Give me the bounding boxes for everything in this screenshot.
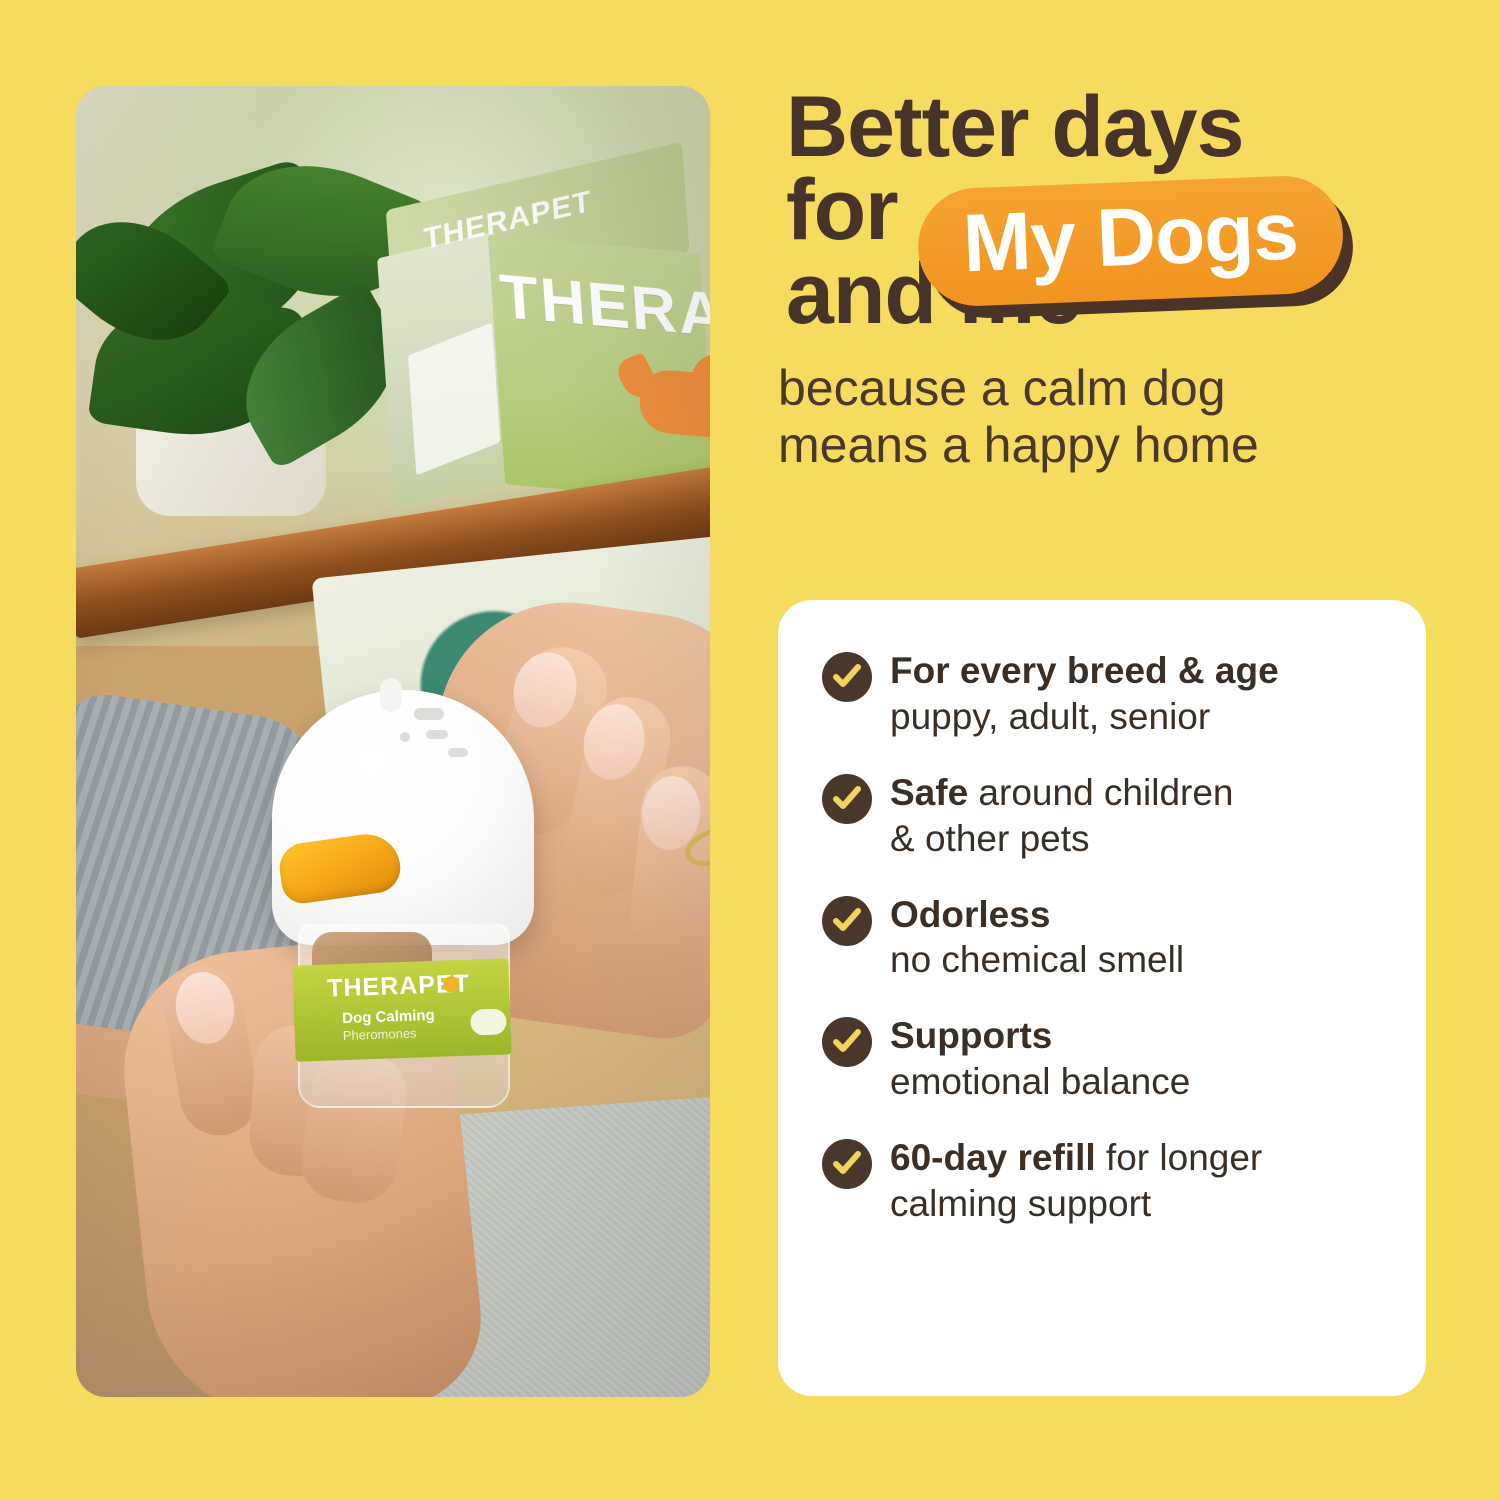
check-icon — [822, 1139, 872, 1189]
list-item: For every breed & age puppy, adult, seni… — [822, 648, 1386, 740]
feature-sub: calming support — [890, 1181, 1262, 1227]
feature-bold: Odorless — [890, 894, 1050, 935]
feature-bold: For every breed & age — [890, 650, 1279, 691]
feature-card: For every breed & age puppy, adult, seni… — [778, 600, 1426, 1396]
feature-text: Safe around children & other pets — [890, 770, 1234, 862]
feature-text: Odorless no chemical smell — [890, 892, 1184, 984]
check-icon — [822, 1017, 872, 1067]
check-icon — [822, 652, 872, 702]
list-item: 60-day refill for longer calming support — [822, 1135, 1386, 1227]
feature-bold: Supports — [890, 1015, 1052, 1056]
list-item: Supports emotional balance — [822, 1013, 1386, 1105]
subheadline: because a calm dog means a happy home — [778, 360, 1418, 474]
poster-canvas: THERAPET THERAPET — [0, 0, 1500, 1500]
badge-label: My Dogs — [962, 191, 1300, 292]
check-icon — [822, 774, 872, 824]
feature-sub: & other pets — [890, 816, 1234, 862]
feature-bold: Safe — [890, 772, 968, 813]
feature-rest: around children — [968, 772, 1233, 813]
feature-rest: for longer — [1096, 1137, 1263, 1178]
feature-text: 60-day refill for longer calming support — [890, 1135, 1262, 1227]
feature-sub: puppy, adult, senior — [890, 694, 1279, 740]
headline-line-1: Better days — [786, 86, 1438, 169]
subheadline-line-2: means a happy home — [778, 417, 1418, 474]
photo-vignette — [76, 86, 710, 1397]
subheadline-line-1: because a calm dog — [778, 360, 1418, 417]
feature-text: Supports emotional balance — [890, 1013, 1190, 1105]
right-column: Better days for and me My Dogs because a… — [778, 86, 1438, 474]
badge-pill: My Dogs — [916, 174, 1345, 308]
feature-bold: 60-day refill — [890, 1137, 1096, 1178]
product-photo: THERAPET THERAPET — [76, 86, 710, 1397]
feature-text: For every breed & age puppy, adult, seni… — [890, 648, 1279, 740]
feature-sub: emotional balance — [890, 1059, 1190, 1105]
feature-sub: no chemical smell — [890, 937, 1184, 983]
feature-list: For every breed & age puppy, adult, seni… — [778, 600, 1426, 1267]
list-item: Odorless no chemical smell — [822, 892, 1386, 984]
check-icon — [822, 896, 872, 946]
list-item: Safe around children & other pets — [822, 770, 1386, 862]
headline: Better days for and me My Dogs — [778, 86, 1438, 336]
